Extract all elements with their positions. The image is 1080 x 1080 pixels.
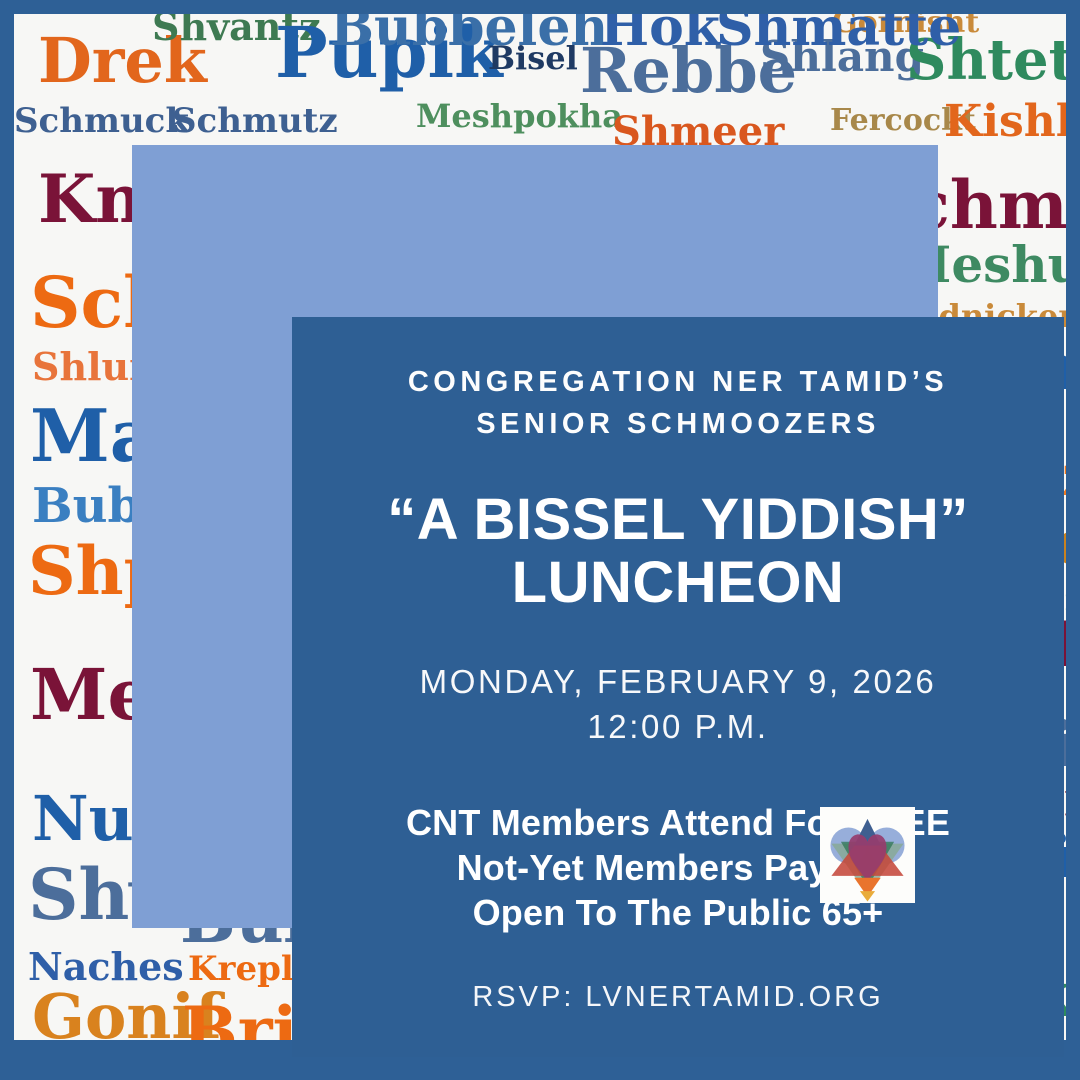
background-word: Hok [600, 14, 720, 54]
background-word: Kishka [944, 100, 1066, 144]
price-non-members: Not-Yet Members Pay $18 [292, 846, 1064, 891]
kicker-line-1: CONGREGATION NER TAMID’S [292, 361, 1064, 403]
price-public: Open To The Public 65+ [292, 891, 1064, 936]
event-headline: “A BISSEL YIDDISH” LUNCHEON [292, 489, 1064, 614]
panel-inner: CONGREGATION NER TAMID’S SENIOR SCHMOOZE… [292, 317, 1064, 1057]
organization-kicker: CONGREGATION NER TAMID’S SENIOR SCHMOOZE… [292, 361, 1064, 445]
rsvp-link[interactable]: RSVP: LVNERTAMID.ORG [292, 981, 1064, 1014]
headline-line-2: LUNCHEON [292, 552, 1064, 615]
headline-line-1: “A BISSEL YIDDISH” [292, 489, 1064, 552]
background-word: Schmutz [172, 104, 338, 138]
event-datetime: MONDAY, FEBRUARY 9, 2026 12:00 P.M. [292, 660, 1064, 749]
background-word: Shmatte [716, 14, 961, 54]
kicker-line-2: SENIOR SCHMOOZERS [292, 403, 1064, 445]
background-word: Meshpokha [416, 100, 623, 132]
price-members: CNT Members Attend For FREE [292, 801, 1064, 846]
background-word: Bubbeleh [330, 14, 608, 54]
flyer-canvas: DrekShvantzPupikBiselRebbeShlangShtetlGo… [0, 0, 1080, 1080]
panel-outer-border: CONGREGATION NER TAMID’S SENIOR SCHMOOZE… [132, 145, 938, 928]
event-date: MONDAY, FEBRUARY 9, 2026 [292, 660, 1064, 705]
background-word: Schmuck [14, 104, 189, 138]
congregation-logo [820, 807, 915, 903]
event-time: 12:00 P.M. [292, 705, 1064, 750]
pricing-details: CNT Members Attend For FREE Not-Yet Memb… [292, 801, 1064, 935]
